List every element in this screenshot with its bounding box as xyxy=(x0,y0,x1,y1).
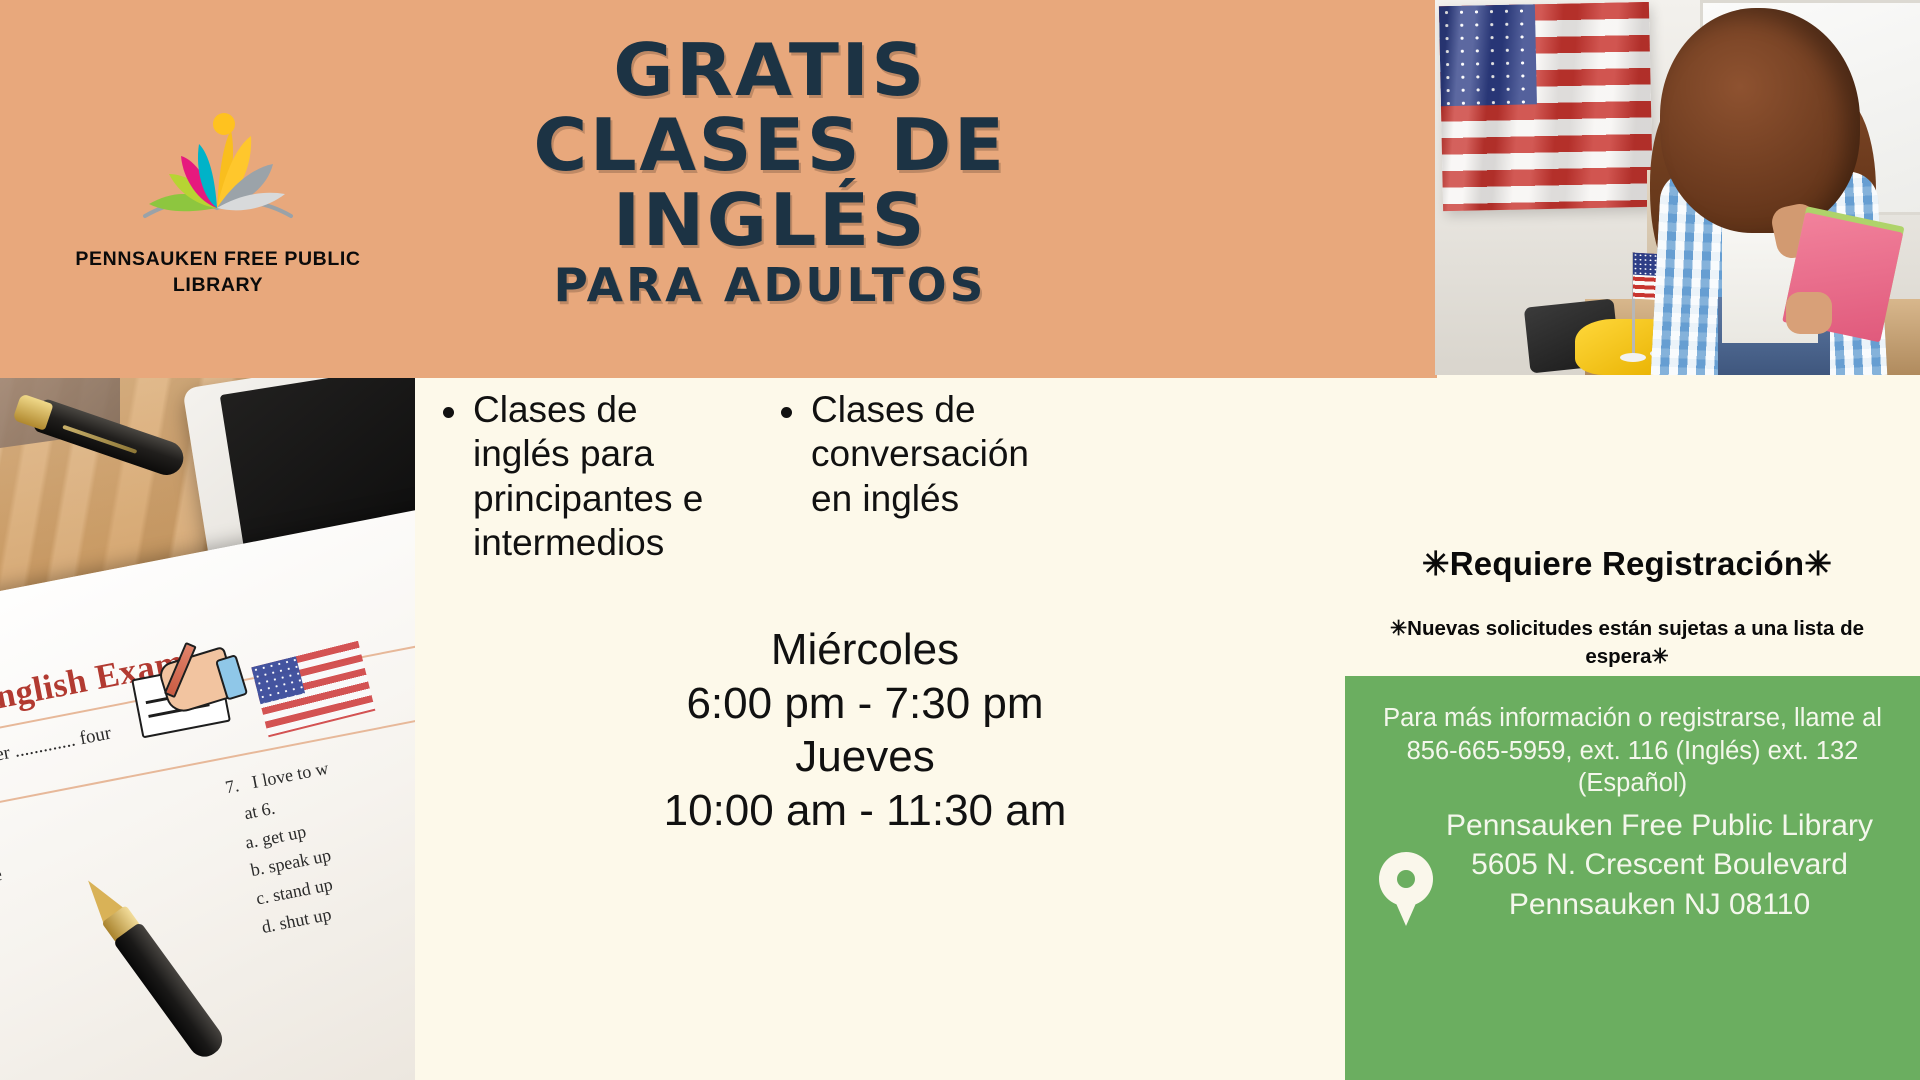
library-logo-block: PENNSAUKEN FREE PUBLIC LIBRARY xyxy=(58,112,378,299)
main-content: Clases de inglés para principantes e int… xyxy=(415,378,1920,1080)
class-offerings-list: Clases de inglés para principantes e int… xyxy=(415,378,1320,566)
schedule-time-2: 10:00 am - 11:30 am xyxy=(415,784,1315,838)
title-line-adultos: PARA ADULTOS xyxy=(413,263,1127,307)
exam-question-left: My mother ............. foursisters.a. h… xyxy=(0,711,178,899)
title-line-ingles: INGLÉS xyxy=(413,186,1127,255)
student-portrait xyxy=(1626,0,1920,375)
registration-required-heading: ✳Requiere Registración✳ xyxy=(1362,544,1892,583)
open-book-logo-svg xyxy=(133,112,303,232)
flag-fold-shading xyxy=(1439,2,1653,211)
list-item: Clases de inglés para principantes e int… xyxy=(427,388,737,566)
header-band: PENNSAUKEN FREE PUBLIC LIBRARY GRATIS CL… xyxy=(0,0,1437,378)
schedule-day-1: Miércoles xyxy=(415,623,1315,677)
waitlist-note: ✳Nuevas solicitudes están sujetas a una … xyxy=(1362,615,1892,670)
hair-top xyxy=(1660,8,1860,233)
us-flag-icon xyxy=(1439,2,1653,211)
registration-notice: ✳Requiere Registración✳ ✳Nuevas solicitu… xyxy=(1362,544,1892,670)
flag-canton xyxy=(251,656,305,704)
contact-phone-text: Para más información o registrarse, llam… xyxy=(1365,702,1900,800)
hand-holding-books xyxy=(1786,292,1832,334)
title-line-clases: CLASES DE xyxy=(413,111,1127,180)
pin-tip xyxy=(1388,885,1424,926)
address-org: Pennsauken Free Public Library xyxy=(1419,806,1900,846)
class-schedule: Miércoles 6:00 pm - 7:30 pm Jueves 10:00… xyxy=(415,623,1315,838)
us-flag-stamp-icon xyxy=(251,641,375,737)
pin-hole xyxy=(1397,870,1415,888)
library-name: PENNSAUKEN FREE PUBLIC LIBRARY xyxy=(58,246,378,299)
open-book-logo-icon xyxy=(133,112,303,232)
list-item: Clases de conversación en inglés xyxy=(765,388,1075,521)
schedule-time-1: 6:00 pm - 7:30 pm xyxy=(415,677,1315,731)
schedule-day-2: Jueves xyxy=(415,730,1315,784)
map-pin-icon xyxy=(1379,852,1433,926)
title-line-gratis: GRATIS xyxy=(413,36,1127,105)
exam-paper: English Exam My mother ............. fou… xyxy=(0,506,415,1080)
address-city: Pennsauken NJ 08110 xyxy=(1419,885,1900,925)
contact-info-box: Para más información o registrarse, llam… xyxy=(1345,676,1920,1080)
exam-question-right: 7. I love to w at 6. a. get up b. speak … xyxy=(223,728,415,943)
bullet-column-1: Clases de inglés para principantes e int… xyxy=(427,378,737,566)
english-exam-photo: English Exam My mother ............. fou… xyxy=(0,378,415,1080)
bullet-column-2: Clases de conversación en inglés xyxy=(765,378,1075,566)
classroom-hero-photo xyxy=(1435,0,1920,375)
poster-title: GRATIS CLASES DE INGLÉS PARA ADULTOS xyxy=(420,36,1120,307)
address-street: 5605 N. Crescent Boulevard xyxy=(1419,845,1900,885)
contact-address: Pennsauken Free Public Library 5605 N. C… xyxy=(1365,806,1900,925)
